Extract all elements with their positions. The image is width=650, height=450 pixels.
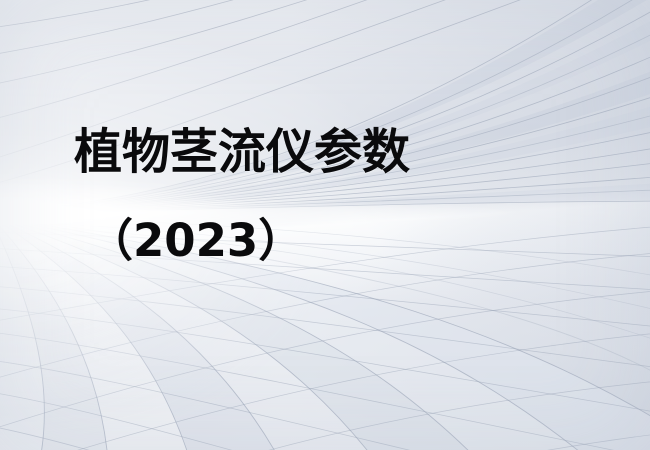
page-title: 植物茎流仪参数 [74,128,594,176]
page-subtitle-year: （2023） [88,218,594,263]
title-block: 植物茎流仪参数 （2023） [74,128,594,263]
title-slide: 植物茎流仪参数 （2023） [0,0,650,450]
